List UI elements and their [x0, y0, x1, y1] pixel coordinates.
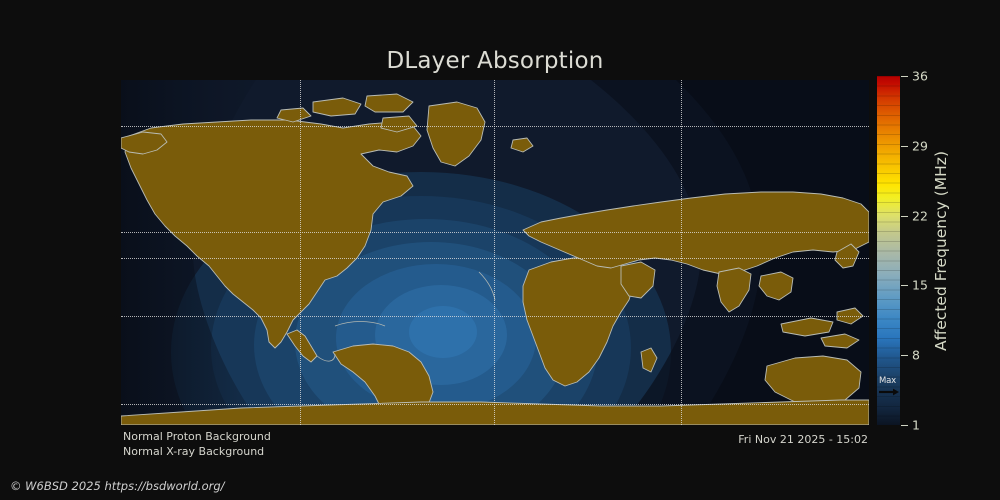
colorbar-tick-15: [901, 285, 908, 286]
colorbar-tick-22: [901, 216, 908, 217]
colorbar-axis-label-text: Affected Frequency (MHz): [932, 151, 950, 351]
colorbar-axis-label: Affected Frequency (MHz): [930, 76, 952, 425]
credit-line: © W6BSD 2025 https://bsdworld.org/: [10, 479, 225, 493]
colorbar-label-8: 8: [912, 348, 920, 363]
colorbar-label-29: 29: [912, 138, 928, 153]
page-title: DLayer Absorption: [0, 48, 990, 74]
colorbar-label-1: 1: [912, 418, 920, 433]
colorbar-tick-8: [901, 355, 908, 356]
colorbar-label-22: 22: [912, 208, 928, 223]
proton-background-status: Normal Proton Background: [123, 429, 271, 444]
colorbar-gradient: [877, 76, 900, 425]
status-annotations: Normal Proton Background Normal X-ray Ba…: [123, 429, 271, 459]
colorbar-tick-36: [901, 76, 908, 77]
colorbar[interactable]: 36 29 22 15 8 1: [877, 76, 900, 425]
colorbar-label-36: 36: [912, 69, 928, 84]
dlayer-absorption-page: DLayer Absorption: [0, 0, 1000, 500]
map-canvas: [121, 80, 869, 425]
colorbar-tick-1: [901, 425, 908, 426]
xray-background-status: Normal X-ray Background: [123, 444, 271, 459]
colorbar-tick-29: [901, 146, 908, 147]
world-map[interactable]: [121, 80, 869, 425]
timestamp: Fri Nov 21 2025 - 15:02: [600, 433, 868, 446]
colorbar-label-15: 15: [912, 278, 928, 293]
